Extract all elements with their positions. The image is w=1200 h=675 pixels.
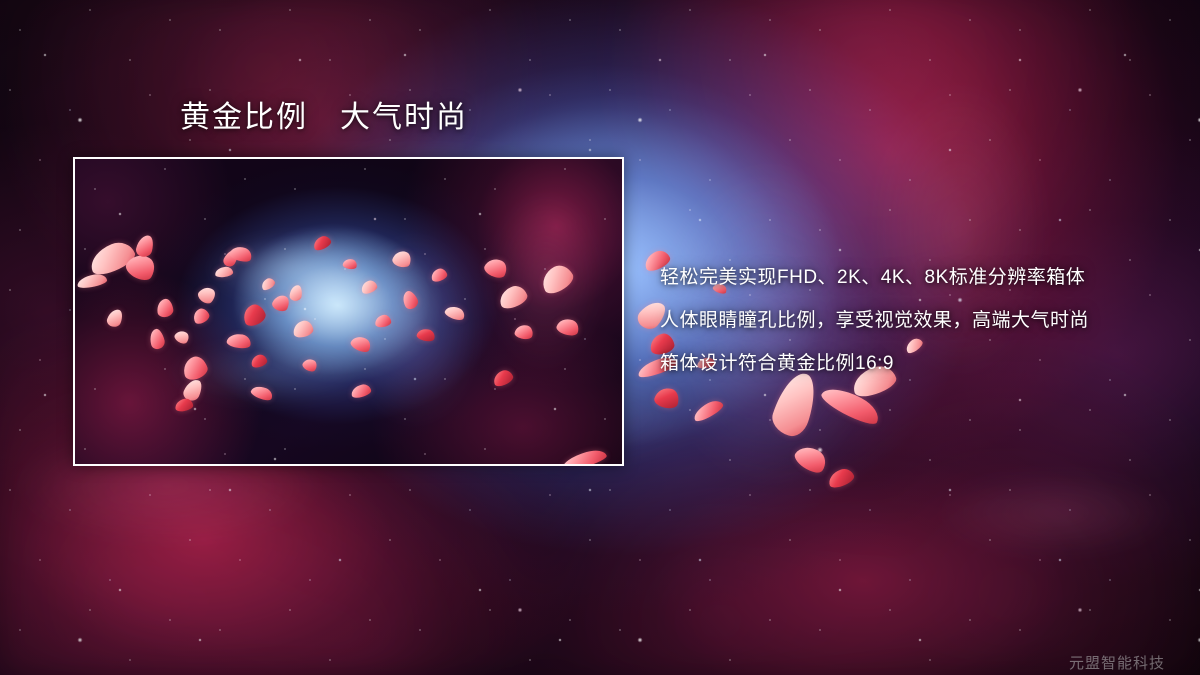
body-text-block: 轻松完美实现FHD、2K、4K、8K标准分辨率箱体 人体眼睛瞳孔比例，享受视觉效… bbox=[660, 256, 1130, 385]
framed-image-inner bbox=[75, 159, 622, 464]
framed-image bbox=[73, 157, 624, 466]
body-line: 人体眼睛瞳孔比例，享受视觉效果，高端大气时尚 bbox=[660, 299, 1130, 342]
body-line: 箱体设计符合黄金比例16:9 bbox=[660, 342, 1130, 385]
page-title: 黄金比例 大气时尚 bbox=[180, 101, 468, 135]
presentation-slide: 黄金比例 大气时尚 轻松完美实现FHD、2K、4K、8K标准分辨率箱体 人体眼睛… bbox=[0, 0, 1200, 675]
watermark: 元盟智能科技 bbox=[1069, 652, 1165, 673]
body-line: 轻松完美实现FHD、2K、4K、8K标准分辨率箱体 bbox=[660, 256, 1130, 299]
